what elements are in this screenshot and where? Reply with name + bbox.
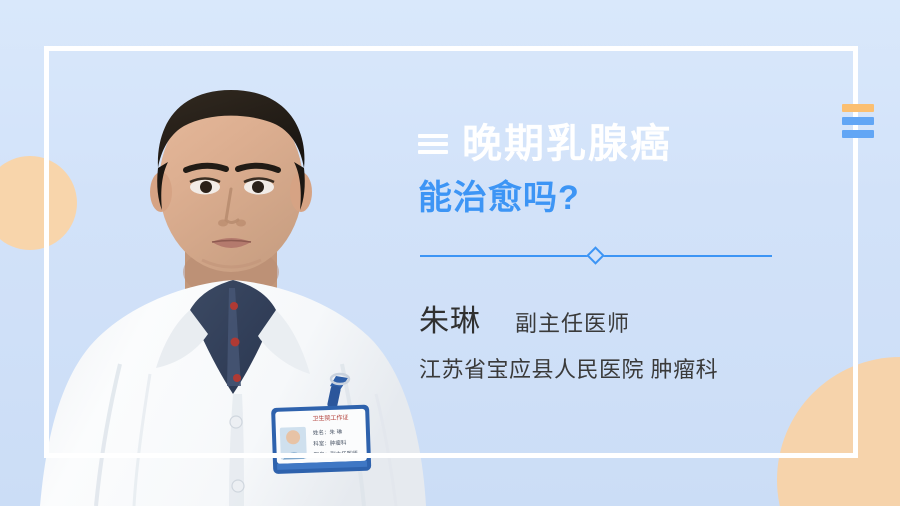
video-cover-canvas: 卫生院工作证 姓名：朱 琳 科室：肿瘤科 职务：副主任医师 晚期乳腺癌 能治愈吗… — [0, 0, 900, 506]
title-line-1-text: 晚期乳腺癌 — [462, 123, 672, 165]
doctor-portrait-photo: 卫生院工作证 姓名：朱 琳 科室：肿瘤科 职务：副主任医师 — [30, 34, 430, 506]
accent-bar-orange — [842, 104, 874, 112]
doctor-rank: 副主任医师 — [515, 306, 630, 338]
three-bar-accent-marker — [842, 104, 874, 138]
title-line-2-text: 能治愈吗? — [418, 180, 818, 217]
doctor-credentials-block: 朱琳 副主任医师 江苏省宝应县人民医院 肿瘤科 — [419, 296, 839, 384]
svg-text:卫生院工作证: 卫生院工作证 — [312, 413, 348, 422]
headline-block: 晚期乳腺癌 能治愈吗? — [418, 118, 818, 217]
decorative-divider — [420, 246, 772, 266]
three-bars-glyph — [418, 133, 448, 155]
title-line-1-row: 晚期乳腺癌 — [418, 118, 818, 170]
doctor-name-row: 朱琳 副主任医师 — [419, 296, 839, 340]
doctor-name: 朱琳 — [419, 296, 481, 340]
accent-bar-blue-1 — [842, 117, 874, 125]
divider-diamond-icon — [586, 246, 604, 264]
accent-bar-blue-2 — [842, 130, 874, 138]
doctor-affiliation: 江苏省宝应县人民医院 肿瘤科 — [419, 352, 839, 384]
